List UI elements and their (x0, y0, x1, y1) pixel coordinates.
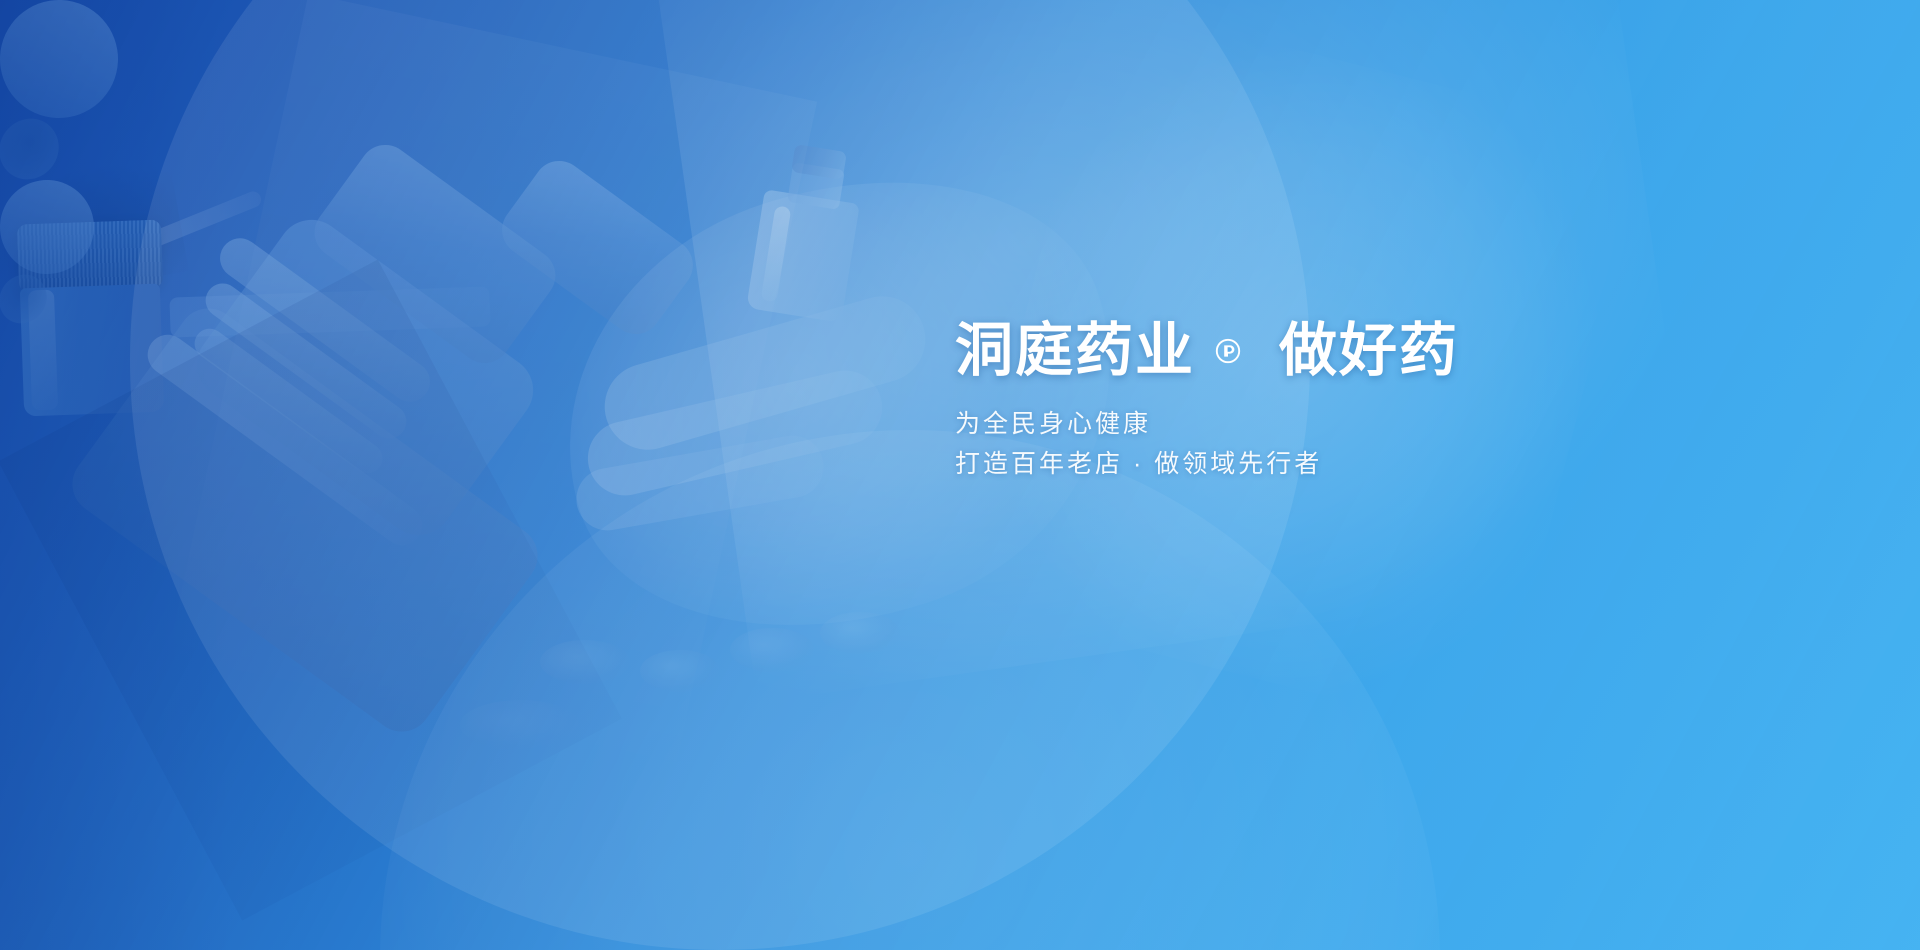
subtitle-line-1: 为全民身心健康 (955, 404, 1459, 444)
banner-copy: 洞庭药业 做好药 为全民身心健康 打造百年老店 · 做领域先行者 (955, 322, 1459, 484)
banner-headline: 洞庭药业 做好药 (955, 322, 1459, 380)
hero-banner: 洞庭药业 做好药 为全民身心健康 打造百年老店 · 做领域先行者 (0, 0, 1920, 950)
subtitle-line-2: 打造百年老店 · 做领域先行者 (955, 444, 1459, 484)
banner-subtitles: 为全民身心健康 打造百年老店 · 做领域先行者 (955, 404, 1459, 484)
headline-segment-2: 做好药 (1279, 322, 1459, 380)
headline-segment-1: 洞庭药业 (955, 322, 1195, 380)
dongting-circle-d-logo-icon (1215, 338, 1241, 364)
